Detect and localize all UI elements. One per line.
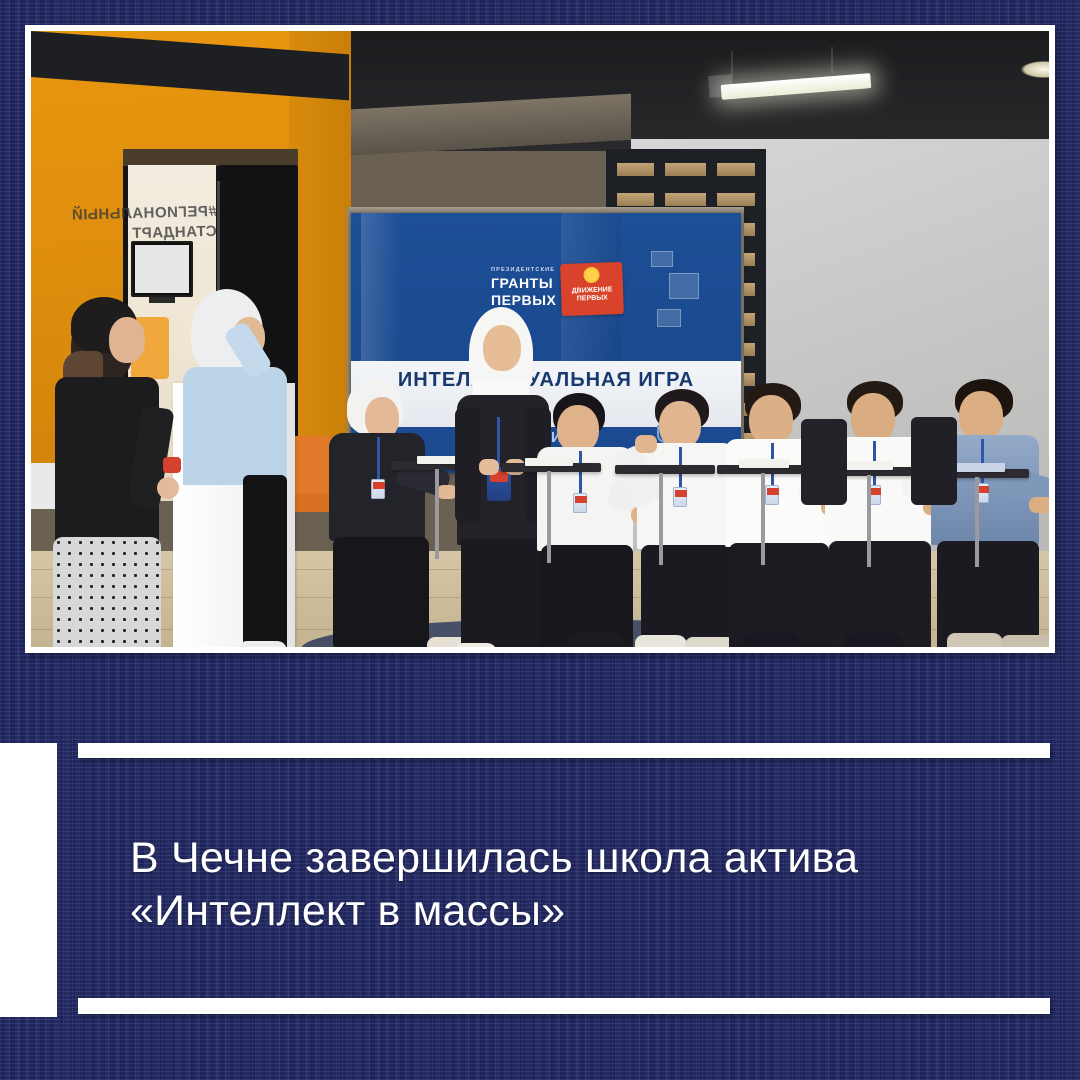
logo-line-1: ГРАНТЫ [491, 275, 553, 291]
lamp-wire [831, 47, 833, 73]
movement-first-badge: ДВИЖЕНИЕ ПЕРВЫХ [560, 262, 624, 316]
desk-post [867, 475, 871, 567]
event-photo: #РЕГИОНАЛЬНЫЙ СТАНДАРТ ПРЕЗИДЕНТСКИЕ ГРА… [31, 31, 1049, 647]
paper [525, 458, 573, 466]
divider-bar-top [78, 743, 1050, 758]
left-accent-block [0, 743, 57, 1017]
desk-post [659, 473, 663, 565]
desk [615, 465, 715, 474]
chair-back [911, 417, 957, 505]
desk-post [761, 473, 765, 565]
desk-post [435, 469, 439, 559]
desk-post [547, 471, 551, 563]
badge-label: ДВИЖЕНИЕ ПЕРВЫХ [561, 286, 623, 304]
logo-kicker: ПРЕЗИДЕНТСКИЕ [491, 267, 555, 273]
person-woman-left [47, 281, 177, 647]
person-student-1 [319, 379, 449, 647]
paper [739, 459, 789, 468]
divider-bar-bottom [78, 998, 1050, 1014]
page-title: В Чечне завершилась школа актива «Интелл… [130, 832, 1010, 938]
door-glass-text: #РЕГИОНАЛЬНЫЙ СТАНДАРТ [130, 202, 217, 245]
desk-post [975, 477, 979, 567]
news-card: #РЕГИОНАЛЬНЫЙ СТАНДАРТ ПРЕЗИДЕНТСКИЕ ГРА… [0, 0, 1080, 1080]
ceiling-light-secondary [1021, 61, 1049, 78]
chair-back [801, 419, 847, 505]
door-header [123, 149, 298, 166]
logo-line-2: ПЕРВЫХ [491, 292, 557, 308]
paper [843, 461, 893, 470]
sun-icon [583, 267, 600, 284]
photo-frame: #РЕГИОНАЛЬНЫЙ СТАНДАРТ ПРЕЗИДЕНТСКИЕ ГРА… [25, 25, 1055, 653]
paper [949, 463, 1005, 472]
person-woman-blue [181, 289, 291, 647]
